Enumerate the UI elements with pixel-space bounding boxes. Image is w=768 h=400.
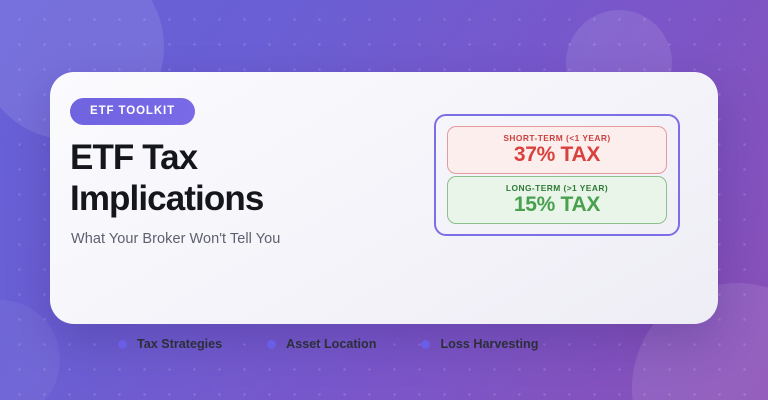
long-term-tax-card: LONG-TERM (>1 YEAR) 15% TAX bbox=[447, 176, 667, 224]
tax-rate-panel: SHORT-TERM (<1 YEAR) 37% TAX LONG-TERM (… bbox=[434, 114, 680, 236]
bullet-label-asset-location: Asset Location bbox=[286, 337, 376, 351]
feature-bullet-list: Tax Strategies Asset Location Loss Harve… bbox=[118, 337, 538, 351]
short-term-tax-label: SHORT-TERM (<1 YEAR) bbox=[503, 133, 610, 143]
card-left-column: ETF TOOLKIT ETF Tax Implications What Yo… bbox=[70, 98, 430, 247]
bullet-dot-icon bbox=[421, 340, 430, 349]
slide-canvas: ETF TOOLKIT ETF Tax Implications What Yo… bbox=[0, 0, 768, 400]
content-card: ETF TOOLKIT ETF Tax Implications What Yo… bbox=[50, 72, 718, 324]
short-term-tax-card: SHORT-TERM (<1 YEAR) 37% TAX bbox=[447, 126, 667, 174]
bullet-dot-icon bbox=[267, 340, 276, 349]
list-item: Loss Harvesting bbox=[421, 337, 538, 351]
page-title: ETF Tax Implications bbox=[70, 138, 430, 219]
page-subtitle: What Your Broker Won't Tell You bbox=[71, 231, 430, 247]
long-term-tax-label: LONG-TERM (>1 YEAR) bbox=[506, 183, 608, 193]
page-title-line-1: ETF Tax bbox=[70, 138, 197, 177]
list-item: Tax Strategies bbox=[118, 337, 222, 351]
bullet-label-tax-strategies: Tax Strategies bbox=[137, 337, 222, 351]
short-term-tax-value: 37% TAX bbox=[514, 144, 600, 166]
etf-toolkit-badge: ETF TOOLKIT bbox=[70, 98, 195, 125]
page-title-line-2: Implications bbox=[70, 179, 263, 218]
long-term-tax-value: 15% TAX bbox=[514, 194, 600, 216]
bullet-label-loss-harvesting: Loss Harvesting bbox=[440, 337, 538, 351]
list-item: Asset Location bbox=[267, 337, 376, 351]
bullet-dot-icon bbox=[118, 340, 127, 349]
